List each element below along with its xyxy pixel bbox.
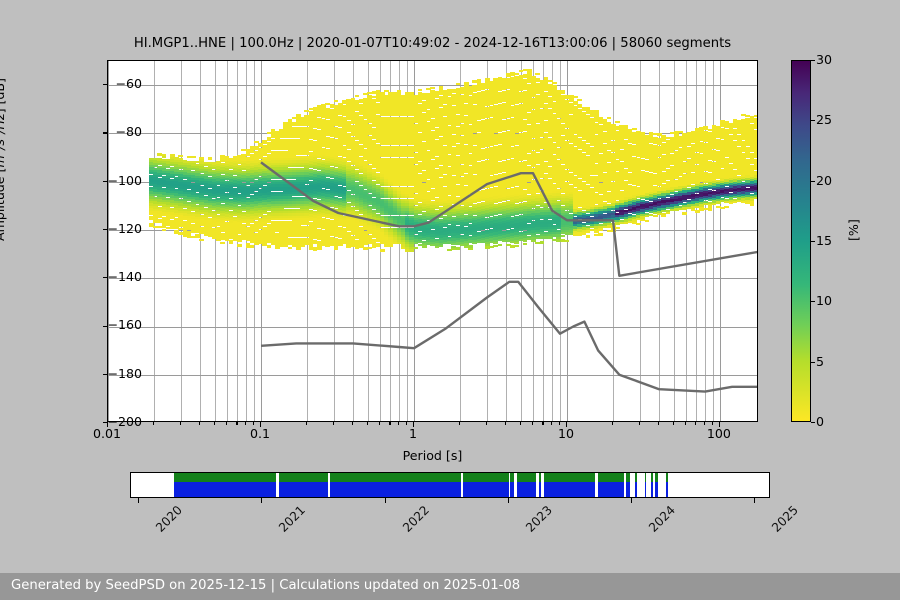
psd-axes [107,60,758,422]
psd-figure: HI.MGP1..HNE | 100.0Hz | 2020-01-07T10:4… [0,0,900,600]
psd-plot-area [108,61,757,421]
page-title: HI.MGP1..HNE | 100.0Hz | 2020-01-07T10:4… [107,36,758,51]
